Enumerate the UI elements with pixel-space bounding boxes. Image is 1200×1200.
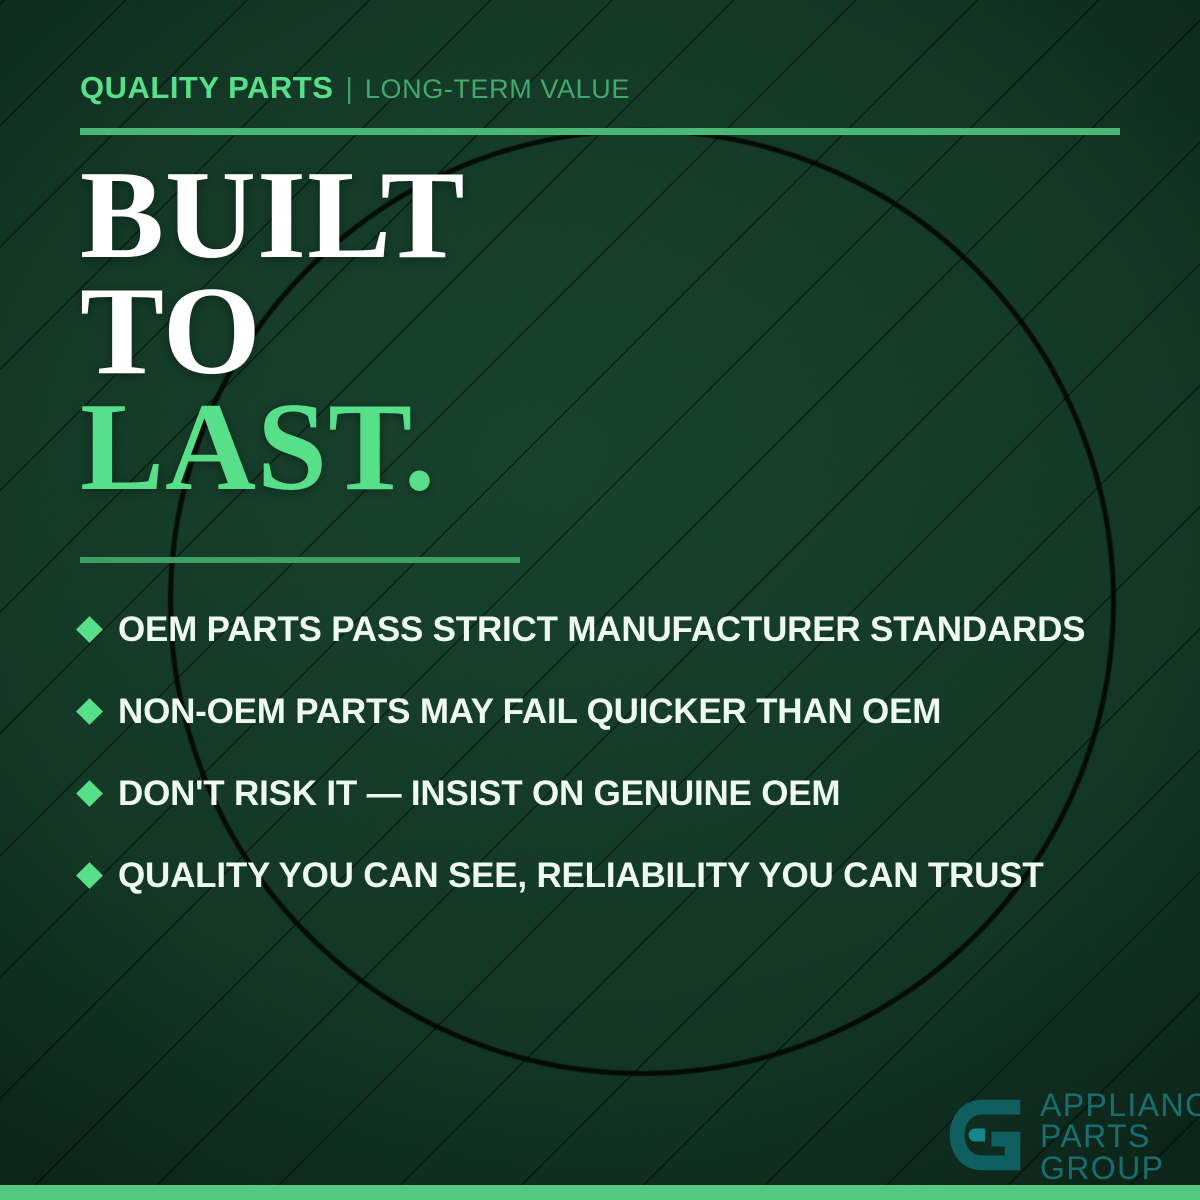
headline-line-2: TO: [80, 274, 780, 390]
brand-logo: APPLIANCE PARTS GROUP: [944, 1090, 1200, 1184]
logo-word-2: PARTS: [1040, 1121, 1200, 1152]
list-item: OEM PARTS PASS STRICT MANUFACTURER STAND…: [80, 588, 1140, 670]
eyebrow-title: QUALITY PARTS: [80, 72, 333, 103]
diamond-icon: [76, 698, 103, 725]
header-divider-rule: [80, 128, 1120, 135]
headline-block: BUILT TO LAST.: [80, 158, 780, 506]
g-monogram-icon: [944, 1094, 1026, 1176]
logo-word-1: APPLIANCE: [1040, 1090, 1200, 1121]
eyebrow-subtitle: LONG-TERM VALUE: [365, 76, 630, 103]
headline-line-1: BUILT: [80, 158, 780, 274]
benefits-list: OEM PARTS PASS STRICT MANUFACTURER STAND…: [80, 588, 1140, 916]
accent-divider-rule: [80, 557, 520, 563]
eyebrow-separator: |: [345, 75, 353, 104]
poster-canvas: QUALITY PARTS | LONG-TERM VALUE BUILT TO…: [0, 0, 1200, 1200]
headline-line-3: LAST.: [80, 390, 780, 506]
diamond-icon: [76, 780, 103, 807]
bottom-accent-bar: [0, 1185, 1200, 1200]
list-item: DON'T RISK IT — INSIST ON GENUINE OEM: [80, 752, 1140, 834]
diamond-icon: [76, 862, 103, 889]
diamond-icon: [76, 616, 103, 643]
logo-word-3: GROUP: [1040, 1153, 1200, 1184]
list-item: NON-OEM PARTS MAY FAIL QUICKER THAN OEM: [80, 670, 1140, 752]
list-item-label: QUALITY YOU CAN SEE, RELIABILITY YOU CAN…: [118, 858, 1044, 893]
list-item-label: DON'T RISK IT — INSIST ON GENUINE OEM: [118, 776, 840, 811]
list-item-label: OEM PARTS PASS STRICT MANUFACTURER STAND…: [118, 612, 1085, 647]
brand-logo-wordmark: APPLIANCE PARTS GROUP: [1040, 1090, 1200, 1184]
list-item-label: NON-OEM PARTS MAY FAIL QUICKER THAN OEM: [118, 694, 941, 729]
list-item: QUALITY YOU CAN SEE, RELIABILITY YOU CAN…: [80, 834, 1140, 916]
eyebrow-header: QUALITY PARTS | LONG-TERM VALUE: [80, 72, 630, 104]
poster-content: QUALITY PARTS | LONG-TERM VALUE BUILT TO…: [0, 0, 1200, 1200]
